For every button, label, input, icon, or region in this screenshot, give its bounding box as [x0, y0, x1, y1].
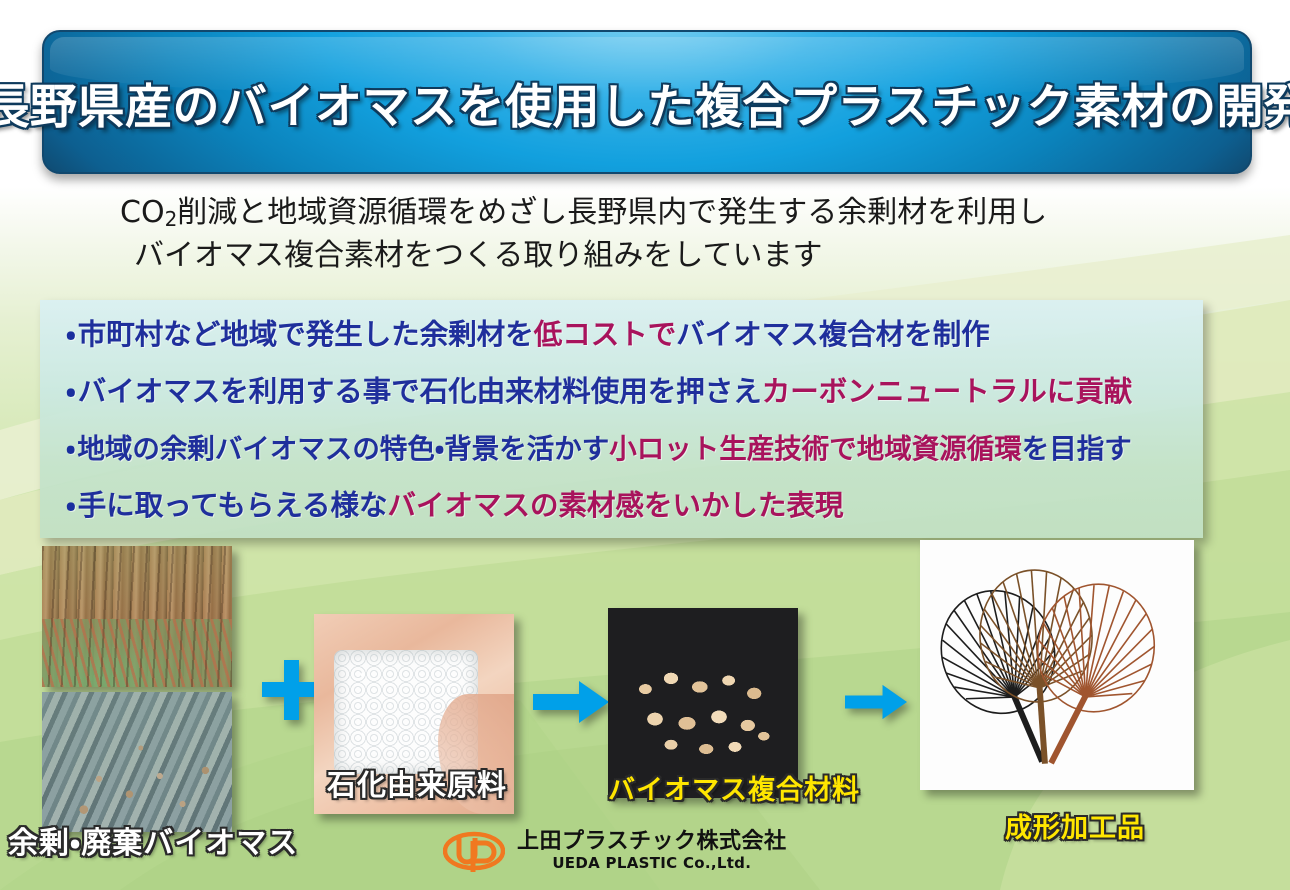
subtitle-line-1-rest: 削減と地域資源循環をめざし長野県内で発生する余剰材を利用し: [177, 195, 1047, 230]
bullet-item-3: ・地域の余剰バイオマスの特色・背景を活かす小ロット生産技術で地域資源循環を目指す: [66, 426, 1193, 466]
bullet-3-segment-1: 地域の余剰バイオマスの特色・背景を活かす: [77, 433, 609, 465]
subtitle-block: CO2削減と地域資源循環をめざし長野県内で発生する余剰材を利用し バイオマス複合…: [120, 192, 1180, 277]
company-name-en: UEDA PLASTIC Co.,Ltd.: [552, 855, 751, 872]
bullet-item-4: ・手に取ってもらえる様なバイオマスの素材感をいかした表現: [66, 483, 1193, 524]
arrow-right-icon-2: [845, 680, 907, 724]
bullet-3-segment-2: 小ロット生産技術で地域資源循環: [609, 433, 1022, 465]
photo-molded-fans: [920, 540, 1194, 790]
co2-subscript: 2: [165, 207, 178, 231]
bullet-1-segment-1: 市町村など地域で発生した余剰材を: [78, 318, 534, 351]
photo-bamboo-forest: [42, 546, 232, 687]
bullet-item-2: ・バイオマスを利用する事で石化由来材料使用を押さえカーボンニュートラルに貢献: [66, 369, 1193, 410]
caption-fossil-raw-material: 石化由来原料: [327, 762, 507, 804]
ueda-plastic-logo-icon: [443, 828, 505, 874]
slide-root: 長野県産のバイオマスを使用した複合プラスチック素材の開発 CO2削減と地域資源循…: [0, 0, 1290, 890]
subtitle-line-2: バイオマス複合素材をつくる取り組みをしています: [120, 235, 1180, 278]
bullet-4-segment-1: 手に取ってもらえる様な: [78, 489, 388, 522]
bullet-marker: ・: [66, 433, 75, 465]
company-name-jp: 上田プラスチック株式会社: [517, 830, 787, 855]
photo-cut-bamboo: [42, 692, 232, 832]
bullet-marker: ・: [66, 489, 76, 522]
subtitle-line-1: CO2削減と地域資源循環をめざし長野県内で発生する余剰材を利用し: [120, 192, 1180, 235]
title-banner: 長野県産のバイオマスを使用した複合プラスチック素材の開発: [42, 30, 1252, 174]
caption-molded-product: 成形加工品: [1005, 806, 1145, 845]
plus-icon: [262, 660, 322, 720]
company-name-block: 上田プラスチック株式会社 UEDA PLASTIC Co.,Ltd.: [517, 830, 787, 871]
bullet-item-1: ・市町村など地域で発生した余剰材を低コストでバイオマス複合材を制作: [66, 312, 1193, 353]
bullet-2-segment-2: カーボンニュートラルに貢献: [762, 375, 1133, 408]
company-logo-block: 上田プラスチック株式会社 UEDA PLASTIC Co.,Ltd.: [443, 828, 787, 874]
caption-biomass-compound: バイオマス複合材料: [608, 768, 860, 807]
caption-biomass: 余剰・廃棄バイオマス: [8, 818, 298, 862]
co2-prefix: CO: [120, 195, 165, 230]
bullet-4-segment-2: バイオマスの素材感をいかした表現: [388, 489, 844, 522]
bullet-marker: ・: [66, 375, 76, 408]
arrow-right-icon-1: [533, 680, 609, 724]
bullet-3-segment-3: を目指す: [1022, 433, 1132, 465]
bullet-1-segment-2: 低コストで: [534, 318, 677, 351]
bullet-1-segment-3: バイオマス複合材: [676, 318, 904, 351]
page-title: 長野県産のバイオマスを使用した複合プラスチック素材の開発: [0, 68, 1290, 137]
bullet-1-segment-4: を制作: [904, 318, 990, 351]
bullet-marker: ・: [66, 318, 76, 351]
bullet-panel: ・市町村など地域で発生した余剰材を低コストでバイオマス複合材を制作 ・バイオマス…: [40, 300, 1203, 538]
bullet-2-segment-1: バイオマスを利用する事で石化由来材料使用を押さえ: [78, 375, 762, 408]
